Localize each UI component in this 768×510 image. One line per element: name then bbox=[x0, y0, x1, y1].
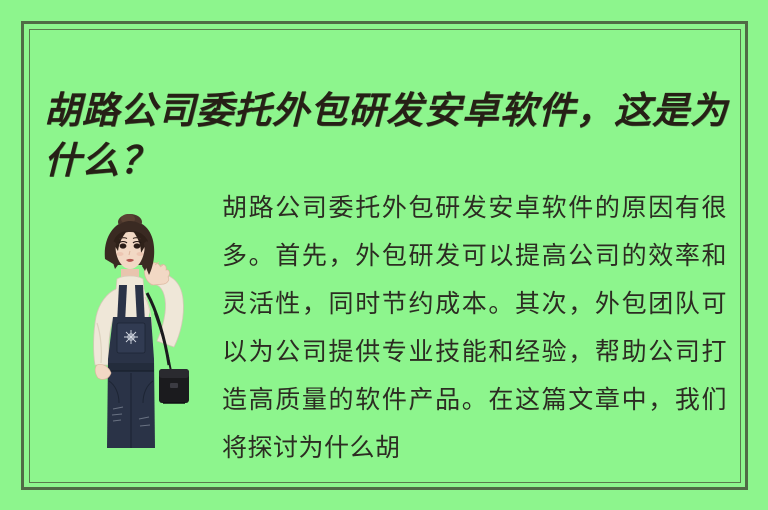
article-body: 胡路公司委托外包研发安卓软件的原因有很多。首先，外包研发可以提高公司的效率和灵活… bbox=[222, 184, 727, 472]
woman-in-overalls-illustration bbox=[75, 213, 201, 448]
article-body-text: 胡路公司委托外包研发安卓软件的原因有很多。首先，外包研发可以提高公司的效率和灵活… bbox=[222, 193, 727, 462]
article-card: 胡路公司委托外包研发安卓软件，这是为什么？ bbox=[0, 0, 768, 510]
page-title: 胡路公司委托外包研发安卓软件，这是为什么？ bbox=[44, 85, 734, 185]
article-illustration bbox=[75, 213, 201, 448]
